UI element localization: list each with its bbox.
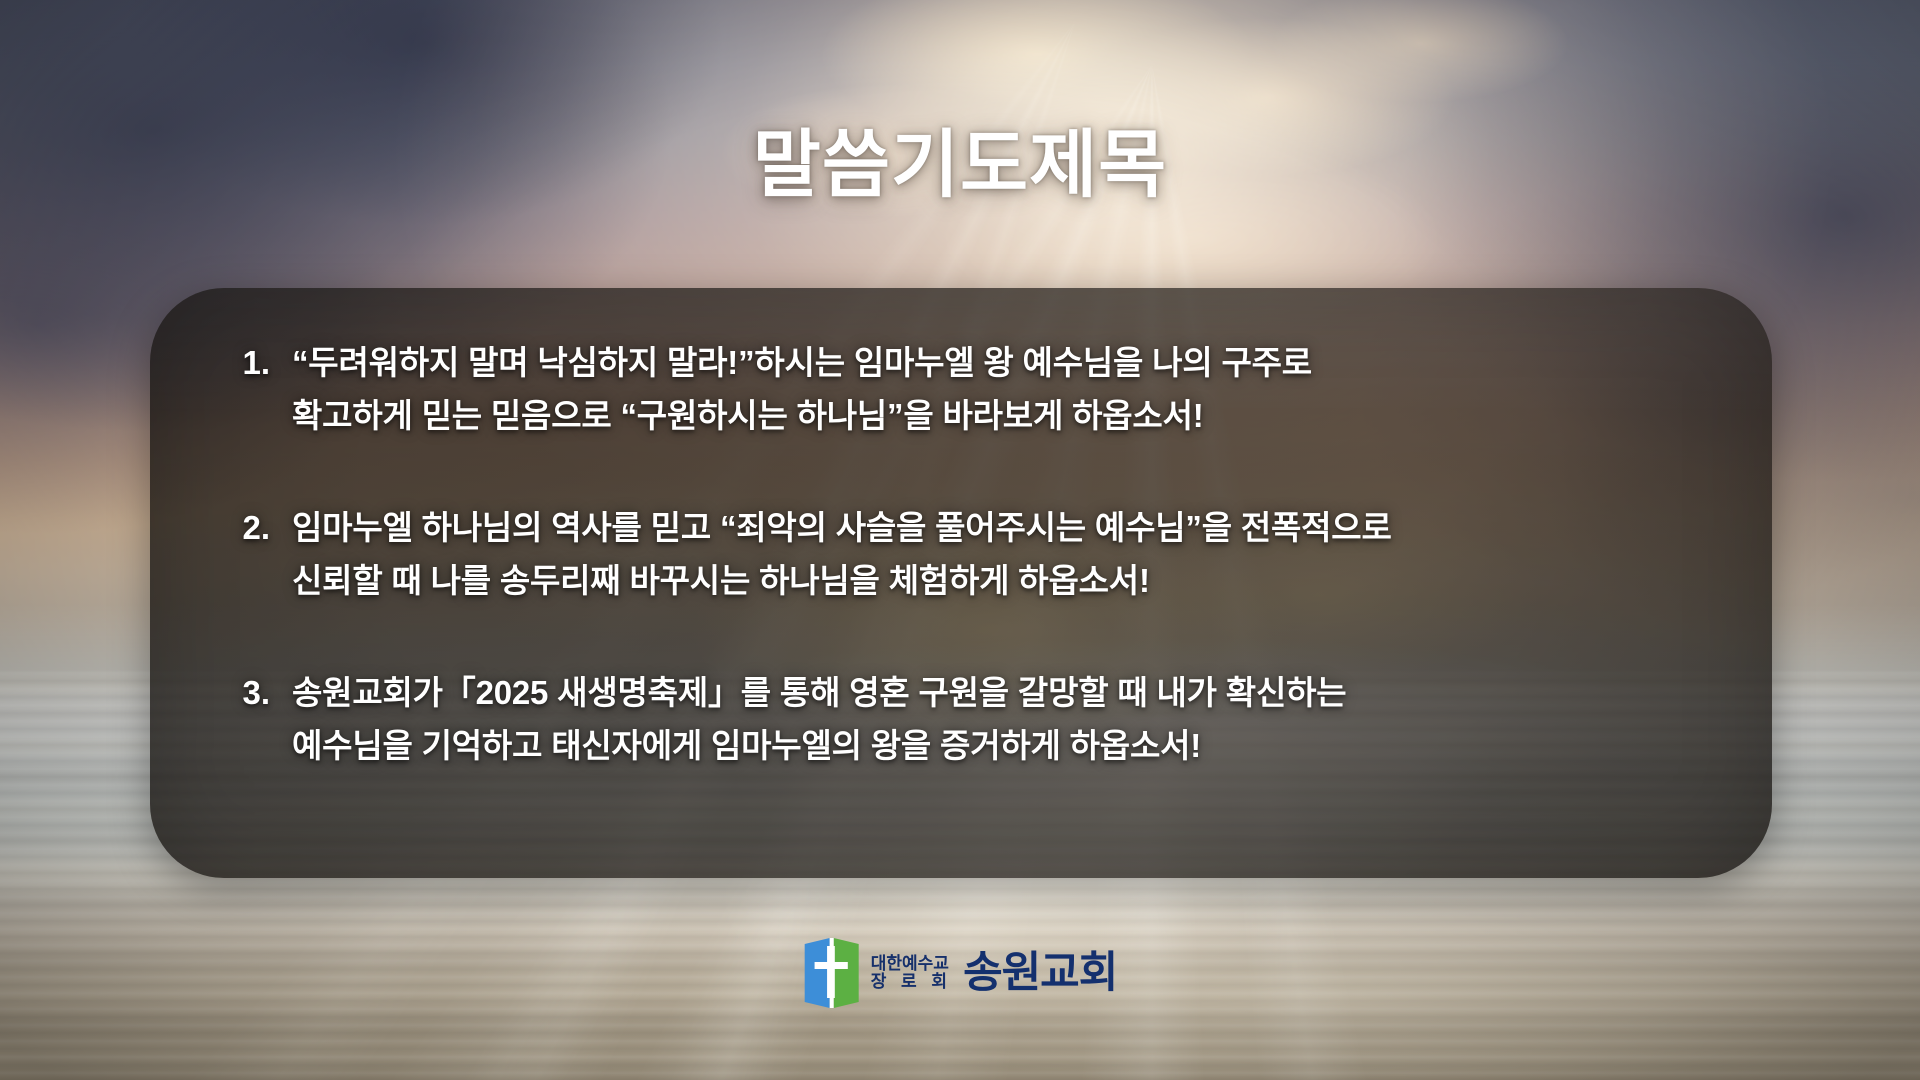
prayer-item-text: “두려워하지 말며 낙심하지 말라!”하시는 임마누엘 왕 예수님을 나의 구주… [292, 336, 1708, 443]
prayer-item-line: 확고하게 믿는 믿음으로 “구원하시는 하나님”을 바라보게 하옵소서! [292, 389, 1708, 442]
prayer-list: 1. “두려워하지 말며 낙심하지 말라!”하시는 임마누엘 왕 예수님을 나의… [150, 288, 1772, 773]
prayer-item-line: 임마누엘 하나님의 역사를 믿고 “죄악의 사슬을 풀어주시는 예수님”을 전폭… [292, 501, 1708, 554]
prayer-topics-panel: 1. “두려워하지 말며 낙심하지 말라!”하시는 임마누엘 왕 예수님을 나의… [150, 288, 1772, 878]
presentation-slide: 말씀기도제목 1. “두려워하지 말며 낙심하지 말라!”하시는 임마누엘 왕 … [0, 0, 1920, 1080]
prayer-item: 2. 임마누엘 하나님의 역사를 믿고 “죄악의 사슬을 풀어주시는 예수님”을… [196, 501, 1708, 608]
prayer-item-line: 신뢰할 때 나를 송두리째 바꾸시는 하나님을 체험하게 하옵소서! [292, 554, 1708, 607]
prayer-item-text: 송원교회가「2025 새생명축제」를 통해 영혼 구원을 갈망할 때 내가 확신… [292, 666, 1708, 773]
logo-church-name: 송원교회 [963, 952, 1117, 995]
church-logo: 대한예수교 장 로 회 송원교회 [803, 938, 1118, 1008]
prayer-item-number: 2. [196, 501, 292, 554]
logo-denomination-line-1: 대한예수교 [871, 955, 952, 973]
logo-denomination-line-2: 장 로 회 [871, 973, 952, 991]
prayer-item-number: 3. [196, 666, 292, 719]
open-door-cross-icon [803, 938, 861, 1008]
prayer-item-text: 임마누엘 하나님의 역사를 믿고 “죄악의 사슬을 풀어주시는 예수님”을 전폭… [292, 501, 1708, 608]
prayer-item: 3. 송원교회가「2025 새생명축제」를 통해 영혼 구원을 갈망할 때 내가… [196, 666, 1708, 773]
prayer-item-line: 예수님을 기억하고 태신자에게 임마누엘의 왕을 증거하게 하옵소서! [292, 719, 1708, 772]
slide-title: 말씀기도제목 [0, 128, 1920, 202]
logo-text: 대한예수교 장 로 회 송원교회 [871, 952, 1118, 995]
prayer-item-number: 1. [196, 336, 292, 389]
prayer-item-line: 송원교회가「2025 새생명축제」를 통해 영혼 구원을 갈망할 때 내가 확신… [292, 666, 1708, 719]
prayer-item-line: “두려워하지 말며 낙심하지 말라!”하시는 임마누엘 왕 예수님을 나의 구주… [292, 336, 1708, 389]
prayer-item: 1. “두려워하지 말며 낙심하지 말라!”하시는 임마누엘 왕 예수님을 나의… [196, 336, 1708, 443]
logo-denomination: 대한예수교 장 로 회 [871, 955, 952, 992]
